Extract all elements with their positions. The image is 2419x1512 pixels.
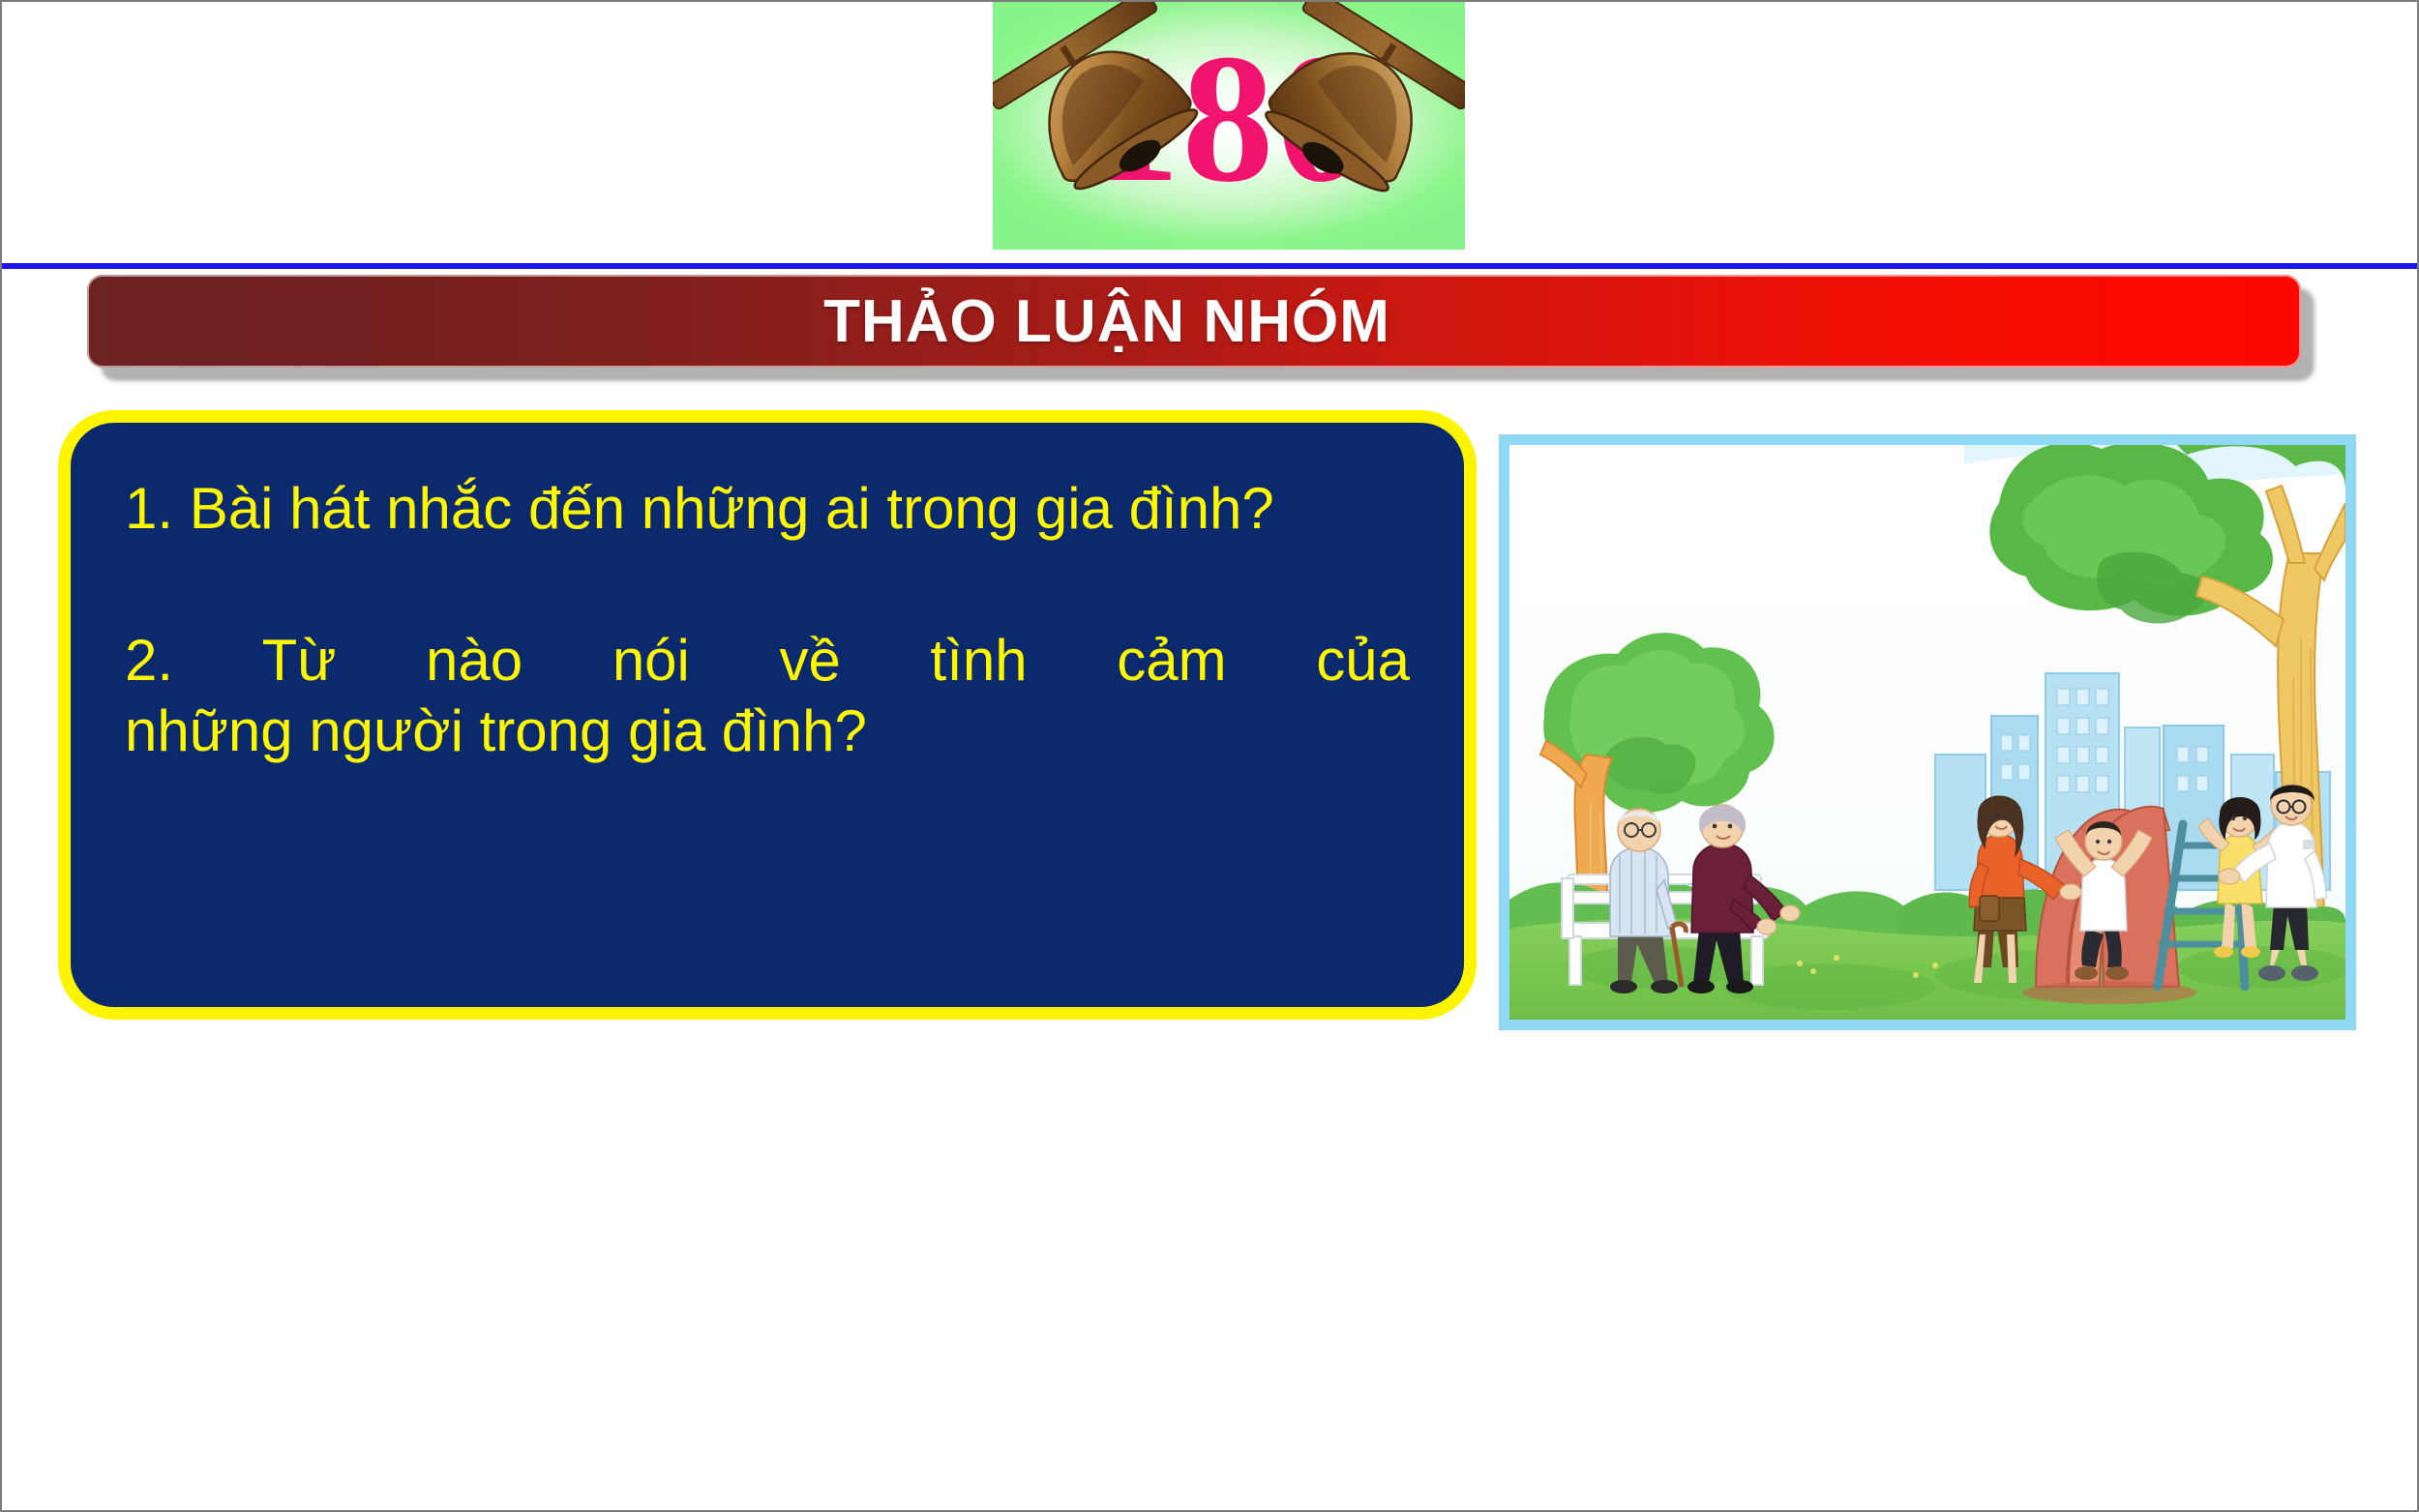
bells-icon: [993, 2, 1465, 250]
title-banner: THẢO LUẬN NHÓM: [87, 275, 2301, 368]
question-2-text: 2. Từ nào nói về tình cảm của những ngườ…: [125, 625, 1410, 766]
banner-title-text: THẢO LUẬN NHÓM: [823, 287, 1390, 356]
slide-canvas: 180: [0, 0, 2419, 1512]
banner-body: THẢO LUẬN NHÓM: [87, 275, 2301, 368]
discussion-question-box: 1. Bài hát nhắc đến những ai trong gia đ…: [58, 410, 1477, 1020]
header-divider-line: [2, 263, 2419, 269]
lesson-number-logo: 180: [993, 2, 1465, 250]
question-2-line-1: 2. Từ nào nói về tình cảm của: [125, 625, 1410, 696]
park-scene-svg: [1509, 445, 2345, 1020]
park-family-illustration: [1499, 434, 2356, 1030]
question-2-line-2: những người trong gia đình?: [125, 696, 1410, 766]
question-1-text: 1. Bài hát nhắc đến những ai trong gia đ…: [125, 473, 1410, 544]
